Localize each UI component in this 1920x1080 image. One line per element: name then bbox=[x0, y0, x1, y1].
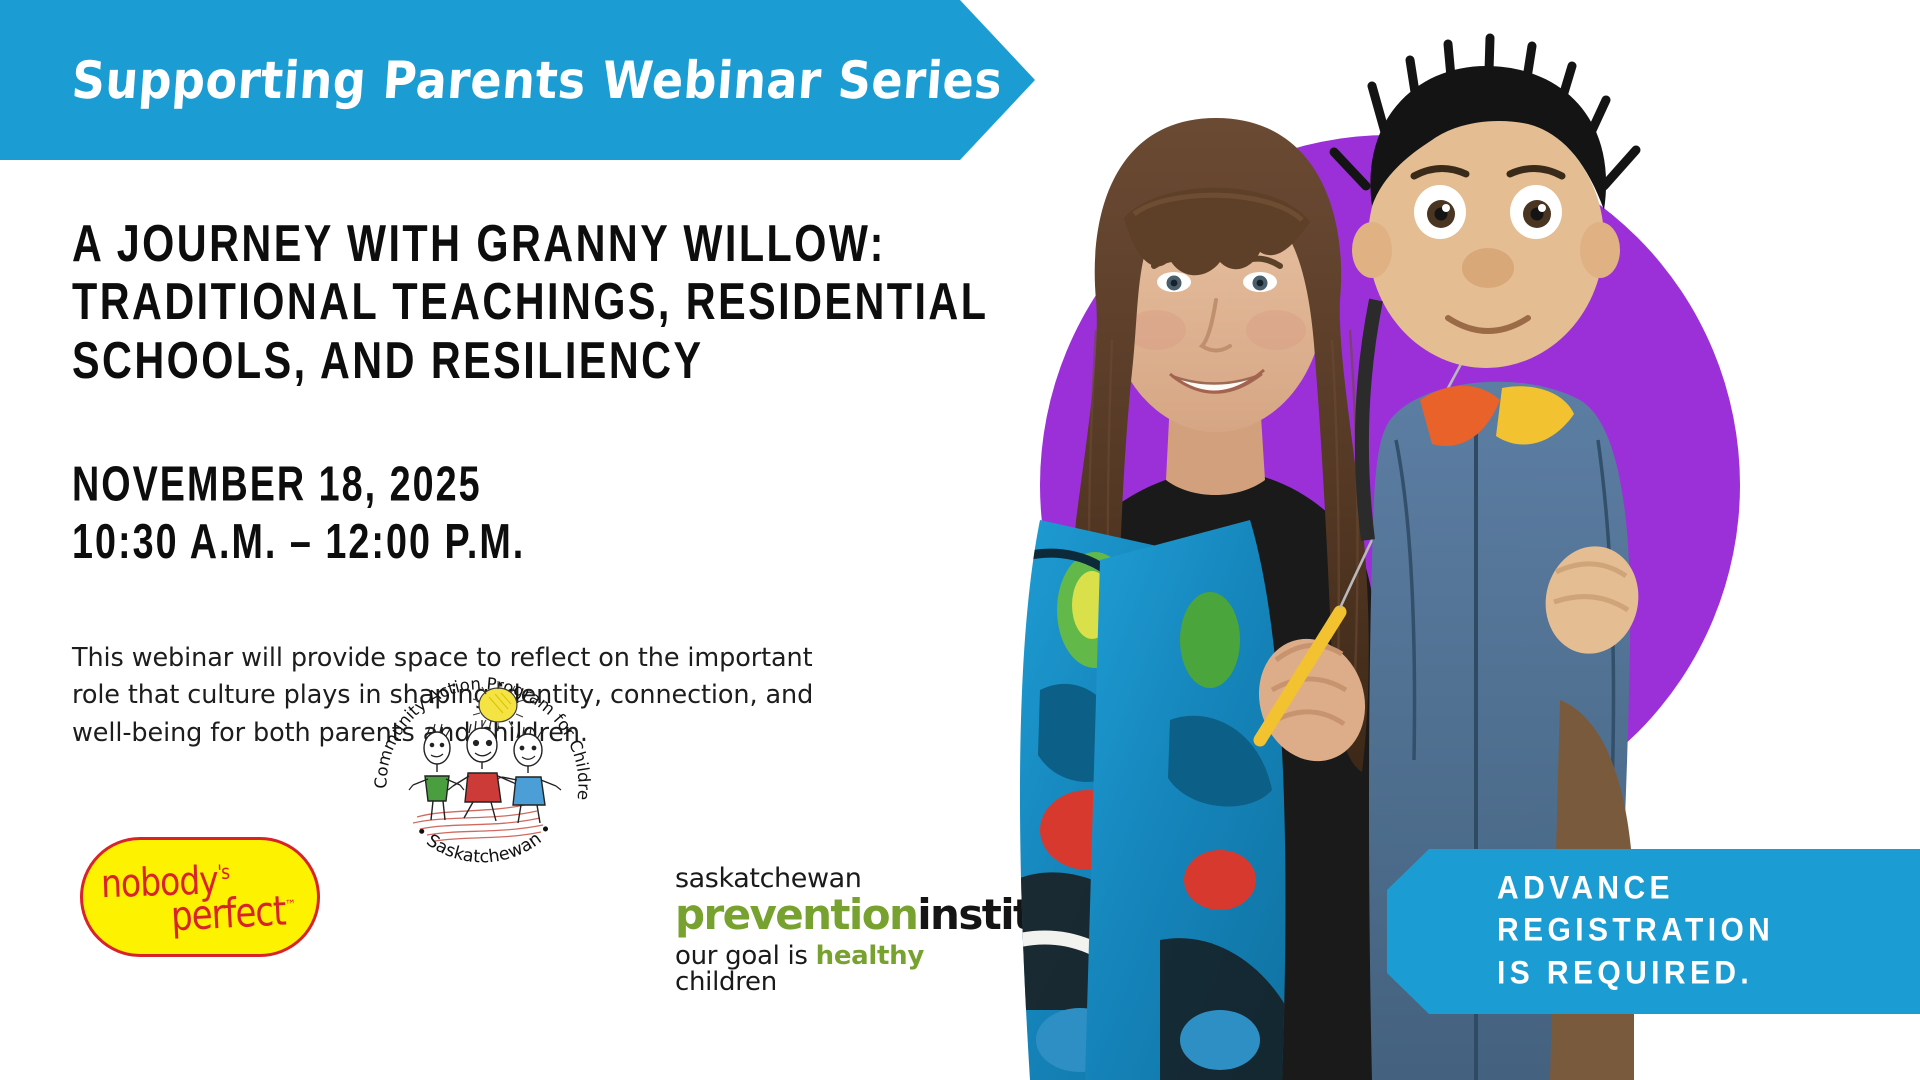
webinar-time: 10:30 A.M. – 12:00 P.M. bbox=[72, 513, 900, 571]
registration-line-3: IS REQUIRED. bbox=[1497, 951, 1920, 997]
advance-registration-banner: ADVANCE REGISTRATION IS REQUIRED. bbox=[1387, 849, 1920, 1014]
title-line-1: A JOURNEY WITH GRANNY WILLOW: bbox=[72, 215, 918, 273]
spi-tagline-end: children bbox=[675, 967, 777, 997]
child-figure-blue bbox=[497, 727, 561, 823]
spi-prevention-word: prevention bbox=[675, 890, 917, 939]
registration-line-1: ADVANCE bbox=[1497, 866, 1920, 912]
nobodys-perfect-logo: nobody's perfect™ bbox=[80, 837, 320, 957]
spi-tagline-healthy: healthy bbox=[816, 941, 924, 971]
capc-logo-artwork: Community Action Program for Children (C… bbox=[365, 645, 600, 880]
webinar-promo-poster: Supporting Parents Webinar Series A JOUR… bbox=[0, 0, 1920, 1080]
series-banner: Supporting Parents Webinar Series bbox=[0, 0, 1035, 160]
child-figure-red bbox=[448, 720, 519, 821]
child-figure-green bbox=[409, 724, 464, 820]
trademark-symbol: ™ bbox=[285, 897, 296, 913]
partner-logo-strip: nobody's perfect™ Community Action Progr… bbox=[70, 805, 970, 1005]
nobodys-perfect-wordmark: nobody's perfect™ bbox=[83, 840, 317, 954]
title-line-2: TRADITIONAL TEACHINGS, RESIDENTIAL bbox=[72, 273, 918, 331]
registration-line-2: REGISTRATION bbox=[1497, 908, 1920, 954]
webinar-date: NOVEMBER 18, 2025 bbox=[72, 455, 900, 513]
nobodys-perfect-apostrophe: 's bbox=[217, 861, 229, 885]
series-banner-label: Supporting Parents Webinar Series bbox=[0, 50, 1004, 110]
webinar-datetime: NOVEMBER 18, 2025 10:30 A.M. – 12:00 P.M… bbox=[72, 455, 900, 571]
capc-logo: Community Action Program for Children (C… bbox=[365, 645, 600, 880]
nobodys-perfect-word-two: perfect™ bbox=[170, 887, 297, 941]
webinar-title: A JOURNEY WITH GRANNY WILLOW: TRADITIONA… bbox=[72, 215, 918, 389]
title-line-3: SCHOOLS, AND RESILIENCY bbox=[72, 331, 918, 389]
